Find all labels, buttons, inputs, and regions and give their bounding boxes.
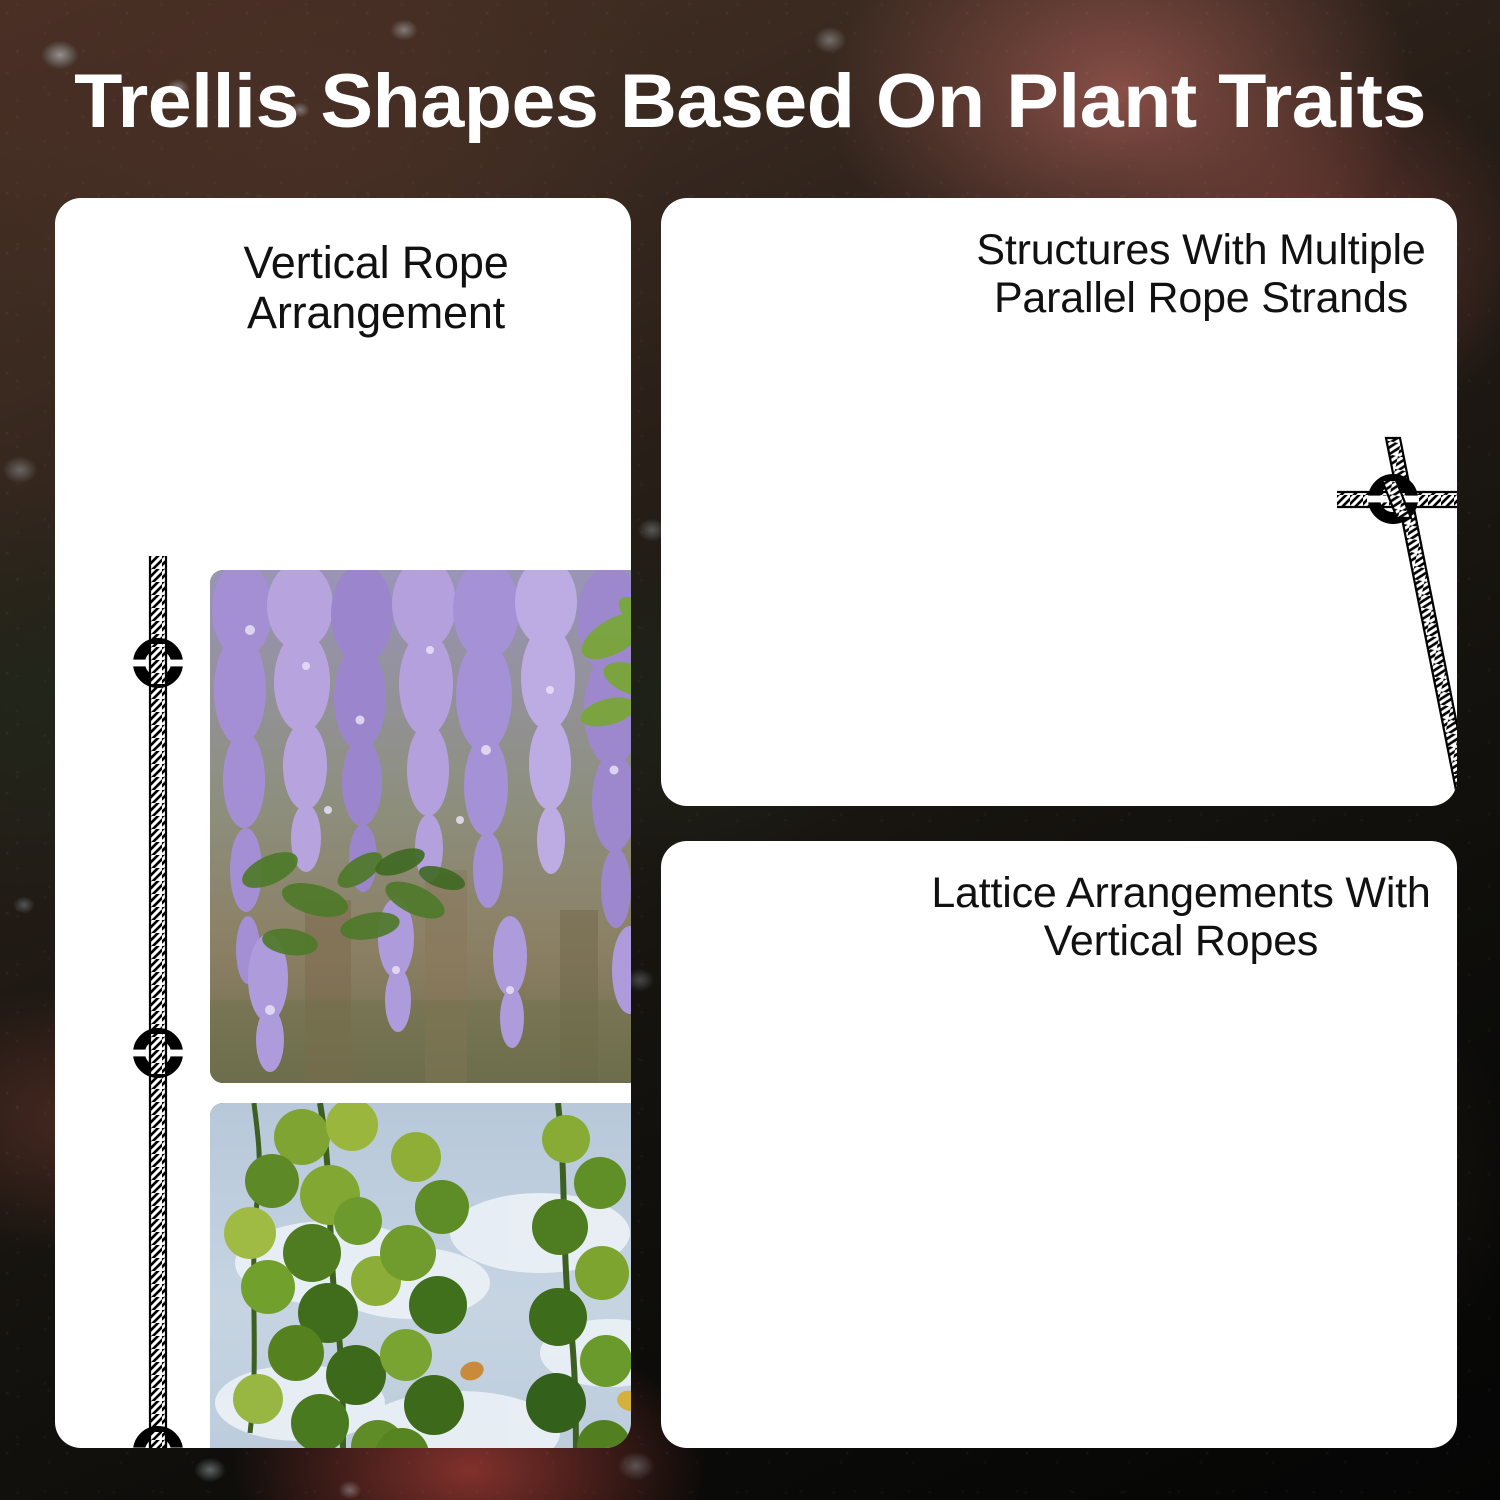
- infographic-canvas: Trellis Shapes Based On Plant Traits Ver…: [0, 0, 1500, 1500]
- photo-climbing-vines: [210, 1103, 631, 1448]
- diagram-single-vertical-rope: [123, 556, 193, 1448]
- photo-wisteria: [210, 570, 631, 1083]
- page-title: Trellis Shapes Based On Plant Traits: [0, 62, 1500, 142]
- card-heading-parallel-strands: Structures With Multiple Parallel Rope S…: [955, 226, 1447, 322]
- card-heading-vertical-rope: Vertical Rope Arrangement: [141, 238, 611, 339]
- card-parallel-strands: Structures With Multiple Parallel Rope S…: [661, 198, 1457, 806]
- card-vertical-rope: Vertical Rope Arrangement: [55, 198, 631, 1448]
- card-lattice: Lattice Arrangements With Vertical Ropes: [661, 841, 1457, 1448]
- card-heading-lattice: Lattice Arrangements With Vertical Ropes: [916, 869, 1446, 965]
- diagram-fan-converging-ropes: [1337, 430, 1457, 806]
